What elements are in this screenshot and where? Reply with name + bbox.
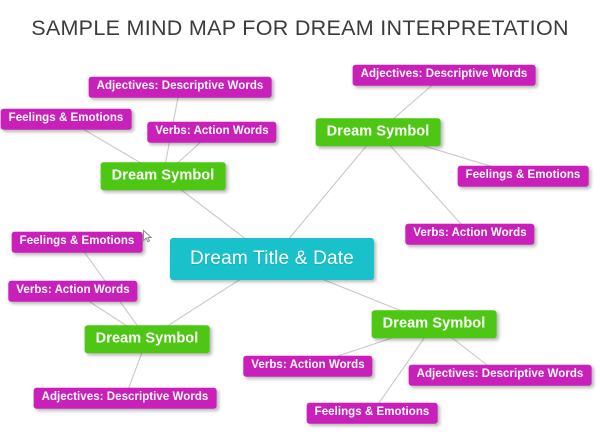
mindmap-leaf-node[interactable]: Feelings & Emotions (307, 403, 438, 424)
mindmap-leaf-node[interactable]: Verbs: Action Words (405, 224, 534, 245)
mindmap-branch-node-3[interactable]: Dream Symbol (85, 325, 210, 353)
mouse-cursor-icon (143, 230, 154, 243)
mindmap-branch-node-4[interactable]: Dream Symbol (372, 310, 497, 338)
mindmap-leaf-node[interactable]: Feelings & Emotions (458, 166, 589, 187)
mindmap-leaf-node[interactable]: Verbs: Action Words (8, 281, 137, 302)
mindmap-leaf-node[interactable]: Verbs: Action Words (147, 122, 276, 143)
mindmap-center-node[interactable]: Dream Title & Date (170, 238, 374, 280)
mindmap-leaf-node[interactable]: Feelings & Emotions (1, 109, 132, 130)
mindmap-leaf-node[interactable]: Adjectives: Descriptive Words (34, 388, 217, 409)
mindmap-leaf-node[interactable]: Adjectives: Descriptive Words (409, 365, 592, 386)
page-title: SAMPLE MIND MAP FOR DREAM INTERPRETATION (0, 16, 600, 41)
mindmap-branch-node-1[interactable]: Dream Symbol (101, 162, 226, 190)
mindmap-leaf-node[interactable]: Feelings & Emotions (12, 232, 143, 253)
mindmap-leaf-node[interactable]: Adjectives: Descriptive Words (89, 77, 272, 98)
mindmap-branch-node-2[interactable]: Dream Symbol (316, 118, 441, 146)
mind-map-canvas: SAMPLE MIND MAP FOR DREAM INTERPRETATION… (0, 0, 600, 436)
connector-line (378, 132, 470, 234)
mindmap-leaf-node[interactable]: Verbs: Action Words (243, 356, 372, 377)
mindmap-leaf-node[interactable]: Adjectives: Descriptive Words (353, 65, 536, 86)
